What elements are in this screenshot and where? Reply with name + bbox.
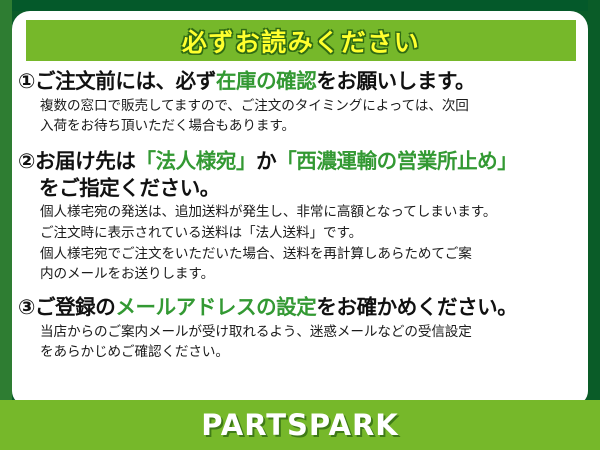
notice-item-2-body: 個人様宅宛の発送は、追加送料が発生し、非常に高額となってしまいます。 ご注文時に…: [18, 202, 580, 285]
notice-item-1-heading: ①ご注文前には、必ず在庫の確認をお願いします。: [18, 68, 580, 95]
notice-item-3-body-line-2: をあらかじめご確認ください。: [40, 342, 580, 363]
notice-item-1-body-line-2: 入荷をお待ち頂いただく場合もあります。: [40, 116, 580, 137]
notice-item-2-heading-line-2: をご指定ください。: [18, 175, 580, 202]
notice-card: 必ずお読みください ①ご注文前には、必ず在庫の確認をお願いします。 複数の窓口で…: [12, 11, 588, 405]
notice-header-title: 必ずお読みください: [182, 23, 421, 59]
notice-item-3-body: 当店からのご案内メールが受け取れるよう、迷惑メールなどの受信設定 をあらかじめご…: [18, 322, 580, 363]
notice-footer-bar: PARTSPARK: [0, 400, 600, 450]
outer-border-left: [0, 0, 12, 450]
notice-item-2-body-line-4: 内のメールをお送りします。: [40, 264, 580, 285]
notice-item-1-body: 複数の窓口で販売してますので、ご注文のタイミングによっては、次回 入荷をお待ち頂…: [18, 96, 580, 137]
notice-item-2: ②お届け先は「法人様宛」か「西濃運輸の営業所止め」 をご指定ください。 個人様宅…: [18, 148, 580, 285]
notice-item-1-heading-part-1: ご注文前には、必ず: [35, 69, 216, 93]
notice-banner: 必ずお読みください ①ご注文前には、必ず在庫の確認をお願いします。 複数の窓口で…: [0, 0, 600, 450]
notice-item-2-heading-part-3: か: [256, 149, 276, 173]
notice-item-3-heading: ③ご登録のメールアドレスの設定をお確かめください。: [18, 294, 580, 321]
notice-item-2-heading-highlight-1: 「法人様宛」: [135, 149, 256, 173]
notice-item-3-marker: ③: [18, 295, 35, 319]
notice-item-2-body-line-2: ご注文時に表示されている送料は「法人送料」です。: [40, 223, 580, 244]
notice-item-3-heading-part-3: をお確かめください。: [316, 295, 517, 319]
notice-item-1-heading-part-3: をお願いします。: [316, 69, 475, 93]
outer-border-right: [588, 0, 600, 450]
notice-item-3-heading-part-1: ご登録の: [35, 295, 115, 319]
notice-item-2-heading: ②お届け先は「法人様宛」か「西濃運輸の営業所止め」 をご指定ください。: [18, 148, 580, 201]
notice-item-2-marker: ②: [18, 149, 35, 173]
notice-item-1-heading-highlight: 在庫の確認: [216, 69, 317, 93]
partspark-logo: PARTSPARK: [201, 408, 399, 442]
notice-item-3: ③ご登録のメールアドレスの設定をお確かめください。 当店からのご案内メールが受け…: [18, 294, 580, 363]
notice-item-2-body-line-3: 個人様宅宛でご注文をいただいた場合、送料を再計算しあらためてご案: [40, 244, 580, 265]
notice-item-1-body-line-1: 複数の窓口で販売してますので、ご注文のタイミングによっては、次回: [40, 96, 580, 117]
notice-item-1-marker: ①: [18, 69, 35, 93]
notice-item-2-heading-highlight-2: 「西濃運輸の営業所止め」: [276, 149, 517, 173]
notice-content: ①ご注文前には、必ず在庫の確認をお願いします。 複数の窓口で販売してますので、ご…: [12, 68, 588, 363]
notice-header-bar: 必ずお読みください: [26, 20, 576, 61]
notice-item-1: ①ご注文前には、必ず在庫の確認をお願いします。 複数の窓口で販売してますので、ご…: [18, 68, 580, 137]
notice-item-2-heading-part-1: お届け先は: [35, 149, 136, 173]
outer-border-top: [0, 0, 600, 11]
notice-item-3-heading-highlight: メールアドレスの設定: [115, 295, 316, 319]
notice-item-3-body-line-1: 当店からのご案内メールが受け取れるよう、迷惑メールなどの受信設定: [40, 322, 580, 343]
notice-item-2-body-line-1: 個人様宅宛の発送は、追加送料が発生し、非常に高額となってしまいます。: [40, 202, 580, 223]
